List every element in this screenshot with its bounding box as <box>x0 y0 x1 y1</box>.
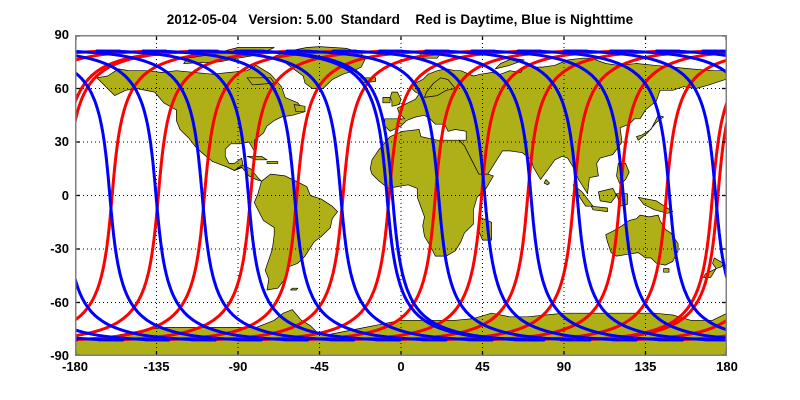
ground-track-figure: 2012-05-04 Version: 5.00 Standard Red is… <box>0 0 800 400</box>
y-tick-label: 60 <box>24 81 69 96</box>
landmass-polygon <box>267 162 278 164</box>
x-tick-label: 180 <box>697 359 757 374</box>
landmass-polygon <box>291 288 298 290</box>
landmass-polygon <box>383 97 390 102</box>
x-tick-label: 45 <box>453 359 513 374</box>
x-tick-label: 90 <box>534 359 594 374</box>
x-tick-label: 135 <box>616 359 676 374</box>
nighttime-track-line <box>703 51 727 52</box>
x-tick-label: -135 <box>127 359 187 374</box>
x-tick-label: -45 <box>290 359 350 374</box>
world-map-plot-area <box>75 35 727 356</box>
y-tick-label: 90 <box>24 27 69 42</box>
x-tick-label: -90 <box>208 359 268 374</box>
page-title: 2012-05-04 Version: 5.00 Standard Red is… <box>0 12 800 27</box>
x-tick-label: 0 <box>371 359 431 374</box>
y-tick-label: -30 <box>24 241 69 256</box>
landmass-polygon <box>664 269 669 273</box>
y-tick-label: 30 <box>24 134 69 149</box>
y-tick-label: -60 <box>24 295 69 310</box>
y-tick-label: 0 <box>24 188 69 203</box>
x-tick-label: -180 <box>45 359 105 374</box>
